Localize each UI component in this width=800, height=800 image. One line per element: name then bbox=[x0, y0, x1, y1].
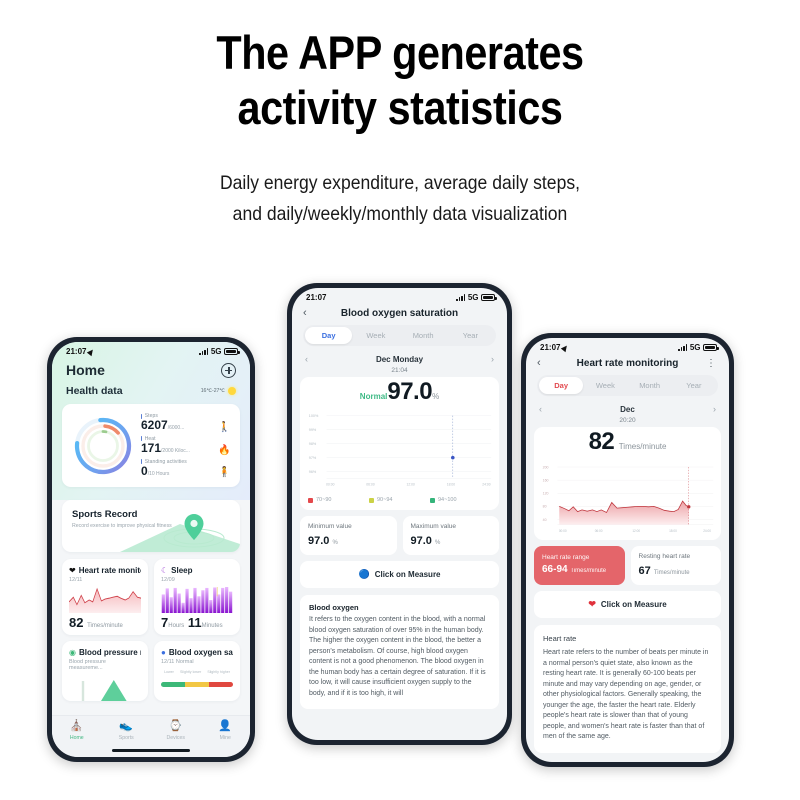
period-segmented-control: Day Week Month Year bbox=[303, 325, 496, 346]
heart-rate-mini-chart bbox=[69, 587, 141, 613]
phone-left-screen: 21:07 5G Home Health data 16℃-27℃ bbox=[52, 342, 250, 757]
current-date-label: Dec Monday bbox=[376, 355, 423, 364]
stat-value: 67 bbox=[639, 565, 651, 577]
stat-value: 66-94 bbox=[542, 564, 568, 575]
legend-label: 90~94 bbox=[377, 497, 392, 503]
home-hero: 21:07 5G Home Health data 16℃-27℃ bbox=[52, 342, 250, 500]
heart-rate-chart[interactable]: 200160 12080 40 00:0006:00 12:0018:00 24… bbox=[534, 456, 721, 540]
stat-unit: Times/minute bbox=[654, 570, 690, 576]
date-navigator: ‹ Dec › bbox=[526, 402, 729, 414]
battery-icon bbox=[224, 348, 238, 355]
legend-item: 90~94 bbox=[369, 497, 430, 503]
metric-row: Steps 6207/6000... 🚶 bbox=[141, 413, 230, 433]
legend-label: 70~90 bbox=[316, 497, 331, 503]
location-arrow-icon bbox=[87, 347, 95, 355]
info-body: Heart rate refers to the number of beats… bbox=[543, 648, 712, 743]
legend-label: 94~100 bbox=[438, 497, 457, 503]
metric-row: Heat 171/2000 Kiloc... 🔥 bbox=[141, 436, 230, 456]
heart-icon: ❤ bbox=[69, 567, 76, 575]
reading-timestamp: 21:04 bbox=[292, 367, 507, 374]
shoe-icon: 👟 bbox=[102, 721, 152, 732]
info-panel: Heart rate Heart rate refers to the numb… bbox=[534, 625, 721, 753]
svg-text:99%: 99% bbox=[309, 428, 317, 432]
current-reading: Normal97.0% bbox=[300, 378, 499, 406]
card-title: Blood oxygen satur bbox=[169, 648, 233, 657]
drop-icon: ● bbox=[161, 649, 166, 657]
page-headline: The APP generates activity statistics bbox=[0, 26, 800, 136]
info-panel: Blood oxygen It refers to the oxygen con… bbox=[300, 595, 499, 709]
metric-value: 171 bbox=[141, 441, 161, 455]
sun-icon bbox=[228, 387, 236, 395]
card-heart-rate[interactable]: ❤ Heart rate monitori 12/11 82 Times/min… bbox=[62, 559, 148, 635]
home-icon: ⛪ bbox=[52, 721, 102, 732]
tab-label: Sports bbox=[102, 735, 152, 741]
flame-icon: 🔥 bbox=[218, 445, 230, 456]
min-max-stats: Minimum value 97.0 % Maximum value 97.0 … bbox=[300, 516, 499, 555]
svg-text:00:00: 00:00 bbox=[559, 529, 567, 533]
metric-value: 0 bbox=[141, 464, 148, 478]
status-bar: 21:07 5G bbox=[526, 338, 729, 354]
svg-text:00:00: 00:00 bbox=[326, 483, 335, 487]
tab-label: Home bbox=[52, 735, 102, 741]
reading-panel: 82 Times/minute bbox=[534, 427, 721, 456]
heart-icon: ❤ bbox=[588, 599, 596, 610]
network-label: 5G bbox=[211, 347, 222, 356]
info-heading: Blood oxygen bbox=[309, 603, 490, 612]
prev-date-button[interactable]: ‹ bbox=[305, 354, 308, 364]
signal-icon bbox=[678, 344, 687, 351]
standing-icon: 🧍 bbox=[218, 467, 230, 478]
svg-text:18:00: 18:00 bbox=[447, 483, 456, 487]
chevron-left-icon[interactable]: ‹ bbox=[537, 357, 551, 369]
status-badge: Normal bbox=[360, 392, 388, 401]
stat-label: Minimum value bbox=[308, 523, 389, 532]
period-segmented-control: Day Week Month Year bbox=[537, 375, 718, 396]
tab-devices[interactable]: ⌚ Devices bbox=[151, 721, 201, 741]
phone-right-screen: 21:07 5G ‹ Heart rate monitoring ⋮ Day W… bbox=[526, 338, 729, 762]
reading-value: 82 bbox=[589, 428, 615, 455]
band-label: Slightly higher bbox=[207, 670, 230, 674]
sleep-hours-unit: Hours bbox=[168, 623, 184, 629]
signal-icon bbox=[456, 294, 465, 301]
moon-icon: ☾ bbox=[161, 567, 168, 575]
weather-temperature: 16℃-27℃ bbox=[201, 388, 225, 394]
tab-label: Mine bbox=[201, 735, 251, 741]
band-label: Slightly lower bbox=[180, 670, 201, 674]
phone-left-home: 21:07 5G Home Health data 16℃-27℃ bbox=[47, 337, 255, 762]
band-label: Lower bbox=[164, 670, 174, 674]
drop-icon: 🔵 bbox=[358, 569, 369, 580]
svg-text:97%: 97% bbox=[309, 456, 317, 460]
bottom-tab-bar: ⛪ Home 👟 Sports ⌚ Devices 👤 Mine bbox=[52, 715, 250, 757]
person-icon: 👤 bbox=[201, 721, 251, 732]
status-time: 21:07 bbox=[306, 293, 326, 302]
bp-icon: ◉ bbox=[69, 649, 76, 657]
home-indicator bbox=[112, 749, 190, 752]
svg-text:24:00: 24:00 bbox=[482, 483, 491, 487]
stat-unit: % bbox=[332, 540, 337, 546]
status-bar: 21:07 5G bbox=[292, 288, 507, 304]
svg-text:200: 200 bbox=[543, 465, 549, 469]
stat-maximum: Maximum value 97.0 % bbox=[403, 516, 500, 555]
legend-swatch bbox=[369, 498, 374, 503]
segment-week[interactable]: Week bbox=[583, 377, 627, 394]
stat-label: Resting heart rate bbox=[639, 553, 714, 562]
segment-month[interactable]: Month bbox=[628, 377, 672, 394]
location-arrow-icon bbox=[561, 343, 569, 351]
metric-goal: /10 Hours bbox=[148, 471, 170, 477]
svg-text:80: 80 bbox=[543, 505, 547, 509]
svg-text:96%: 96% bbox=[309, 470, 317, 474]
svg-text:160: 160 bbox=[543, 478, 549, 482]
mini-card-row-2: ◉ Blood pressure mor Blood pressure meas… bbox=[62, 641, 240, 701]
tab-sports[interactable]: 👟 Sports bbox=[102, 721, 152, 741]
measure-button-label: Click on Measure bbox=[601, 600, 667, 609]
legend-item: 94~100 bbox=[430, 497, 491, 503]
tab-mine[interactable]: 👤 Mine bbox=[201, 721, 251, 741]
battery-icon bbox=[481, 294, 495, 301]
metric-goal: /6000... bbox=[168, 425, 185, 431]
card-title: Heart rate monitori bbox=[79, 566, 141, 575]
current-reading: 82 Times/minute bbox=[534, 428, 721, 456]
info-heading: Heart rate bbox=[543, 634, 712, 643]
info-body: It refers to the oxygen content in the b… bbox=[309, 615, 490, 699]
chevron-left-icon[interactable]: ‹ bbox=[303, 307, 317, 319]
phone-right-heart-rate: 21:07 5G ‹ Heart rate monitoring ⋮ Day W… bbox=[521, 333, 734, 767]
signal-icon bbox=[199, 348, 208, 355]
card-subtitle: Blood pressure measureme... bbox=[69, 659, 141, 671]
mini-card-row-1: ❤ Heart rate monitori 12/11 82 Times/min… bbox=[62, 559, 240, 635]
health-data-row: Health data 16℃-27℃ bbox=[52, 381, 250, 404]
metrics-list: Steps 6207/6000... 🚶 Heat 171/2000 Kiloc… bbox=[134, 413, 230, 478]
svg-text:100%: 100% bbox=[309, 414, 319, 418]
status-time: 21:07 bbox=[66, 347, 86, 356]
card-value: 82 bbox=[69, 615, 83, 630]
segment-week[interactable]: Week bbox=[352, 327, 399, 344]
svg-text:06:00: 06:00 bbox=[595, 529, 603, 533]
card-blood-pressure[interactable]: ◉ Blood pressure mor Blood pressure meas… bbox=[62, 641, 148, 701]
svg-text:18:00: 18:00 bbox=[669, 529, 677, 533]
stat-resting-heart-rate: Resting heart rate 67 Times/minute bbox=[631, 546, 722, 585]
legend-swatch bbox=[308, 498, 313, 503]
heart-rate-stats: Heart rate range 66-94 Times/minute Rest… bbox=[534, 546, 721, 585]
card-date: 12/11 bbox=[69, 577, 141, 583]
next-date-button[interactable]: › bbox=[713, 404, 716, 414]
network-label: 5G bbox=[690, 343, 701, 352]
headline-line-1: The APP generates bbox=[48, 26, 752, 81]
subheadline-line-1: Daily energy expenditure, average daily … bbox=[40, 168, 760, 199]
sports-record-card[interactable]: Sports Record Record exercise to improve… bbox=[62, 500, 240, 552]
svg-text:24:00: 24:00 bbox=[703, 529, 711, 533]
current-date-label: Dec bbox=[620, 405, 635, 414]
card-sleep[interactable]: ☾ Sleep 12/09 bbox=[154, 559, 240, 635]
phone-mid-screen: 21:07 5G ‹ Blood oxygen saturation Day W… bbox=[292, 288, 507, 740]
card-date: 12/09 bbox=[161, 577, 233, 583]
sleep-minutes-unit: Minutes bbox=[202, 623, 223, 629]
segment-day[interactable]: Day bbox=[305, 327, 352, 344]
legend-swatch bbox=[430, 498, 435, 503]
kebab-menu-icon[interactable]: ⋮ bbox=[704, 358, 718, 369]
svg-text:40: 40 bbox=[543, 518, 547, 522]
network-label: 5G bbox=[468, 293, 479, 302]
tab-label: Devices bbox=[151, 735, 201, 741]
stat-value: 97.0 bbox=[308, 535, 329, 547]
blood-pressure-mini-chart bbox=[69, 677, 141, 701]
stat-label: Heart rate range bbox=[542, 554, 617, 561]
next-date-button[interactable]: › bbox=[491, 354, 494, 364]
reading-timestamp: 20:20 bbox=[526, 417, 729, 424]
card-blood-oxygen[interactable]: ● Blood oxygen satur 12/11 Normal Lower … bbox=[154, 641, 240, 701]
stat-label: Maximum value bbox=[411, 523, 492, 532]
spo2-legend: 70~90 90~94 94~100 bbox=[300, 492, 499, 510]
plus-circle-icon[interactable] bbox=[221, 363, 236, 378]
spo2-chart[interactable]: 100%99% 98%97% 96% 00:0006:00 12:0018:00… bbox=[300, 406, 499, 492]
stat-minimum: Minimum value 97.0 % bbox=[300, 516, 397, 555]
phone-mid-blood-oxygen: 21:07 5G ‹ Blood oxygen saturation Day W… bbox=[287, 283, 512, 745]
detail-header: ‹ Heart rate monitoring ⋮ bbox=[526, 354, 729, 375]
reading-unit: % bbox=[432, 392, 439, 401]
map-pin-icon bbox=[120, 510, 240, 552]
stat-value: 97.0 bbox=[411, 535, 432, 547]
card-title: Blood pressure mor bbox=[79, 648, 141, 657]
blood-oxygen-band-labels: Lower Slightly lower Slightly higher bbox=[161, 670, 233, 674]
metric-value: 6207 bbox=[141, 418, 168, 432]
segment-year[interactable]: Year bbox=[672, 377, 716, 394]
reading-value: 97.0 bbox=[387, 378, 432, 405]
svg-text:12:00: 12:00 bbox=[632, 529, 640, 533]
reading-unit: Times/minute bbox=[619, 442, 667, 451]
measure-button[interactable]: 🔵 Click on Measure bbox=[300, 561, 499, 588]
segment-year[interactable]: Year bbox=[447, 327, 494, 344]
watch-icon: ⌚ bbox=[151, 721, 201, 732]
card-date: 12/11 Normal bbox=[161, 659, 233, 665]
blood-oxygen-band-bar bbox=[161, 682, 233, 687]
prev-date-button[interactable]: ‹ bbox=[539, 404, 542, 414]
svg-text:12:00: 12:00 bbox=[407, 483, 416, 487]
page-title: Home bbox=[66, 362, 105, 378]
status-time: 21:07 bbox=[540, 343, 560, 352]
page-title: Blood oxygen saturation bbox=[317, 308, 482, 319]
legend-item: 70~90 bbox=[308, 497, 369, 503]
stat-unit: Times/minute bbox=[570, 568, 606, 574]
stat-unit: % bbox=[435, 540, 440, 546]
metric-goal: /2000 Kiloc... bbox=[161, 448, 190, 454]
battery-icon bbox=[703, 344, 717, 351]
svg-text:98%: 98% bbox=[309, 442, 317, 446]
metric-row: Standing activities 0/10 Hours 🧍 bbox=[141, 459, 230, 479]
home-header: Home bbox=[52, 358, 250, 381]
measure-button[interactable]: ❤ Click on Measure bbox=[534, 591, 721, 618]
date-navigator: ‹ Dec Monday › bbox=[292, 352, 507, 364]
detail-header: ‹ Blood oxygen saturation bbox=[292, 304, 507, 325]
headline-line-2: activity statistics bbox=[48, 81, 752, 136]
activity-rings-chart bbox=[72, 415, 134, 477]
segment-day[interactable]: Day bbox=[539, 377, 583, 394]
subheadline-line-2: and daily/weekly/monthly data visualizat… bbox=[40, 199, 760, 230]
tab-home[interactable]: ⛪ Home bbox=[52, 721, 102, 741]
health-data-label: Health data bbox=[66, 385, 123, 397]
walking-icon: 🚶 bbox=[218, 422, 230, 433]
activity-rings-card[interactable]: Steps 6207/6000... 🚶 Heat 171/2000 Kiloc… bbox=[62, 404, 240, 487]
svg-text:120: 120 bbox=[543, 492, 549, 496]
sleep-minutes: 11 bbox=[188, 615, 202, 630]
page-title: Heart rate monitoring bbox=[551, 358, 704, 369]
page-subheadline: Daily energy expenditure, average daily … bbox=[0, 168, 800, 230]
measure-button-label: Click on Measure bbox=[375, 570, 441, 579]
segment-month[interactable]: Month bbox=[400, 327, 447, 344]
reading-panel: Normal97.0% bbox=[300, 377, 499, 406]
card-title: Sleep bbox=[171, 566, 192, 575]
status-bar: 21:07 5G bbox=[52, 342, 250, 358]
sleep-mini-chart bbox=[161, 587, 233, 613]
stat-heart-rate-range: Heart rate range 66-94 Times/minute bbox=[534, 546, 625, 585]
svg-text:06:00: 06:00 bbox=[366, 483, 375, 487]
card-unit: Times/minute bbox=[87, 623, 123, 629]
weather-widget: 16℃-27℃ bbox=[201, 387, 236, 395]
